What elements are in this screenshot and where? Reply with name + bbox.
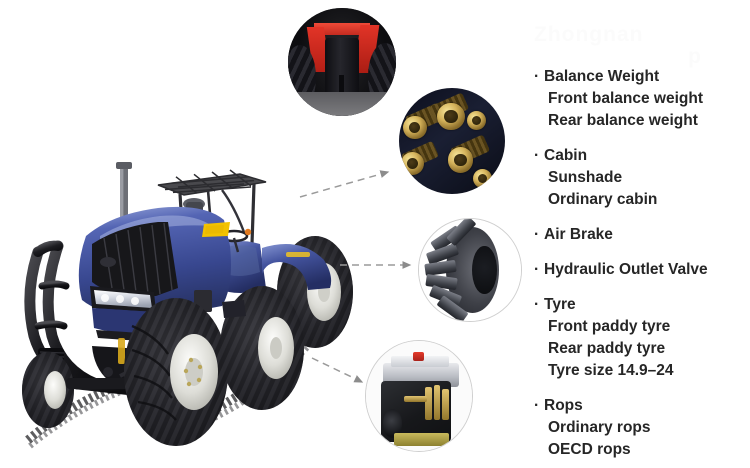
connector-to-balance-weights <box>300 172 388 197</box>
spec-bullet: · <box>534 259 544 281</box>
spec-bullet: · <box>534 395 544 417</box>
spec-sub-item: Sunshade <box>534 167 746 189</box>
spec-bullet: · <box>534 294 544 316</box>
spec-heading-label: Air Brake <box>544 226 613 243</box>
spec-bullet: · <box>534 224 544 246</box>
spec-list: ·Balance Weight Front balance weight Rea… <box>534 66 746 468</box>
infographic-canvas: Zhongnan p <box>0 0 750 468</box>
spec-heading-label: Balance Weight <box>544 68 659 85</box>
spec-sub-item: Ordinary cabin <box>534 189 746 211</box>
spec-sub-item: Ordinary rops <box>534 417 746 439</box>
spec-group-cabin: ·Cabin Sunshade Ordinary cabin <box>534 145 746 211</box>
spec-heading: ·Rops <box>534 395 746 417</box>
spec-heading-label: Hydraulic Outlet Valve <box>544 261 708 278</box>
spec-group-air-brake: ·Air Brake <box>534 224 746 246</box>
spec-heading: ·Cabin <box>534 145 746 167</box>
spec-sub-item: Rear balance weight <box>534 110 746 132</box>
spec-bullet: · <box>534 145 544 167</box>
spec-group-rops: ·Rops Ordinary rops OECD rops <box>534 395 746 461</box>
spec-heading: ·Hydraulic Outlet Valve <box>534 259 746 281</box>
connector-to-engine <box>312 358 362 382</box>
spec-group-tyre: ·Tyre Front paddy tyre Rear paddy tyre T… <box>534 294 746 382</box>
spec-heading-label: Rops <box>544 397 583 414</box>
spec-heading-label: Cabin <box>544 147 587 164</box>
spec-sub-item: Front balance weight <box>534 88 746 110</box>
spec-sub-item: Tyre size 14.9–24 <box>534 360 746 382</box>
spec-heading: ·Tyre <box>534 294 746 316</box>
spec-group-hydraulic-outlet-valve: ·Hydraulic Outlet Valve <box>534 259 746 281</box>
spec-sub-item: Front paddy tyre <box>534 316 746 338</box>
spec-heading: ·Air Brake <box>534 224 746 246</box>
spec-sub-item: Rear paddy tyre <box>534 338 746 360</box>
spec-heading-label: Tyre <box>544 296 576 313</box>
spec-sub-item: OECD rops <box>534 439 746 461</box>
spec-group-balance-weight: ·Balance Weight Front balance weight Rea… <box>534 66 746 132</box>
spec-heading: ·Balance Weight <box>534 66 746 88</box>
spec-bullet: · <box>534 66 544 88</box>
